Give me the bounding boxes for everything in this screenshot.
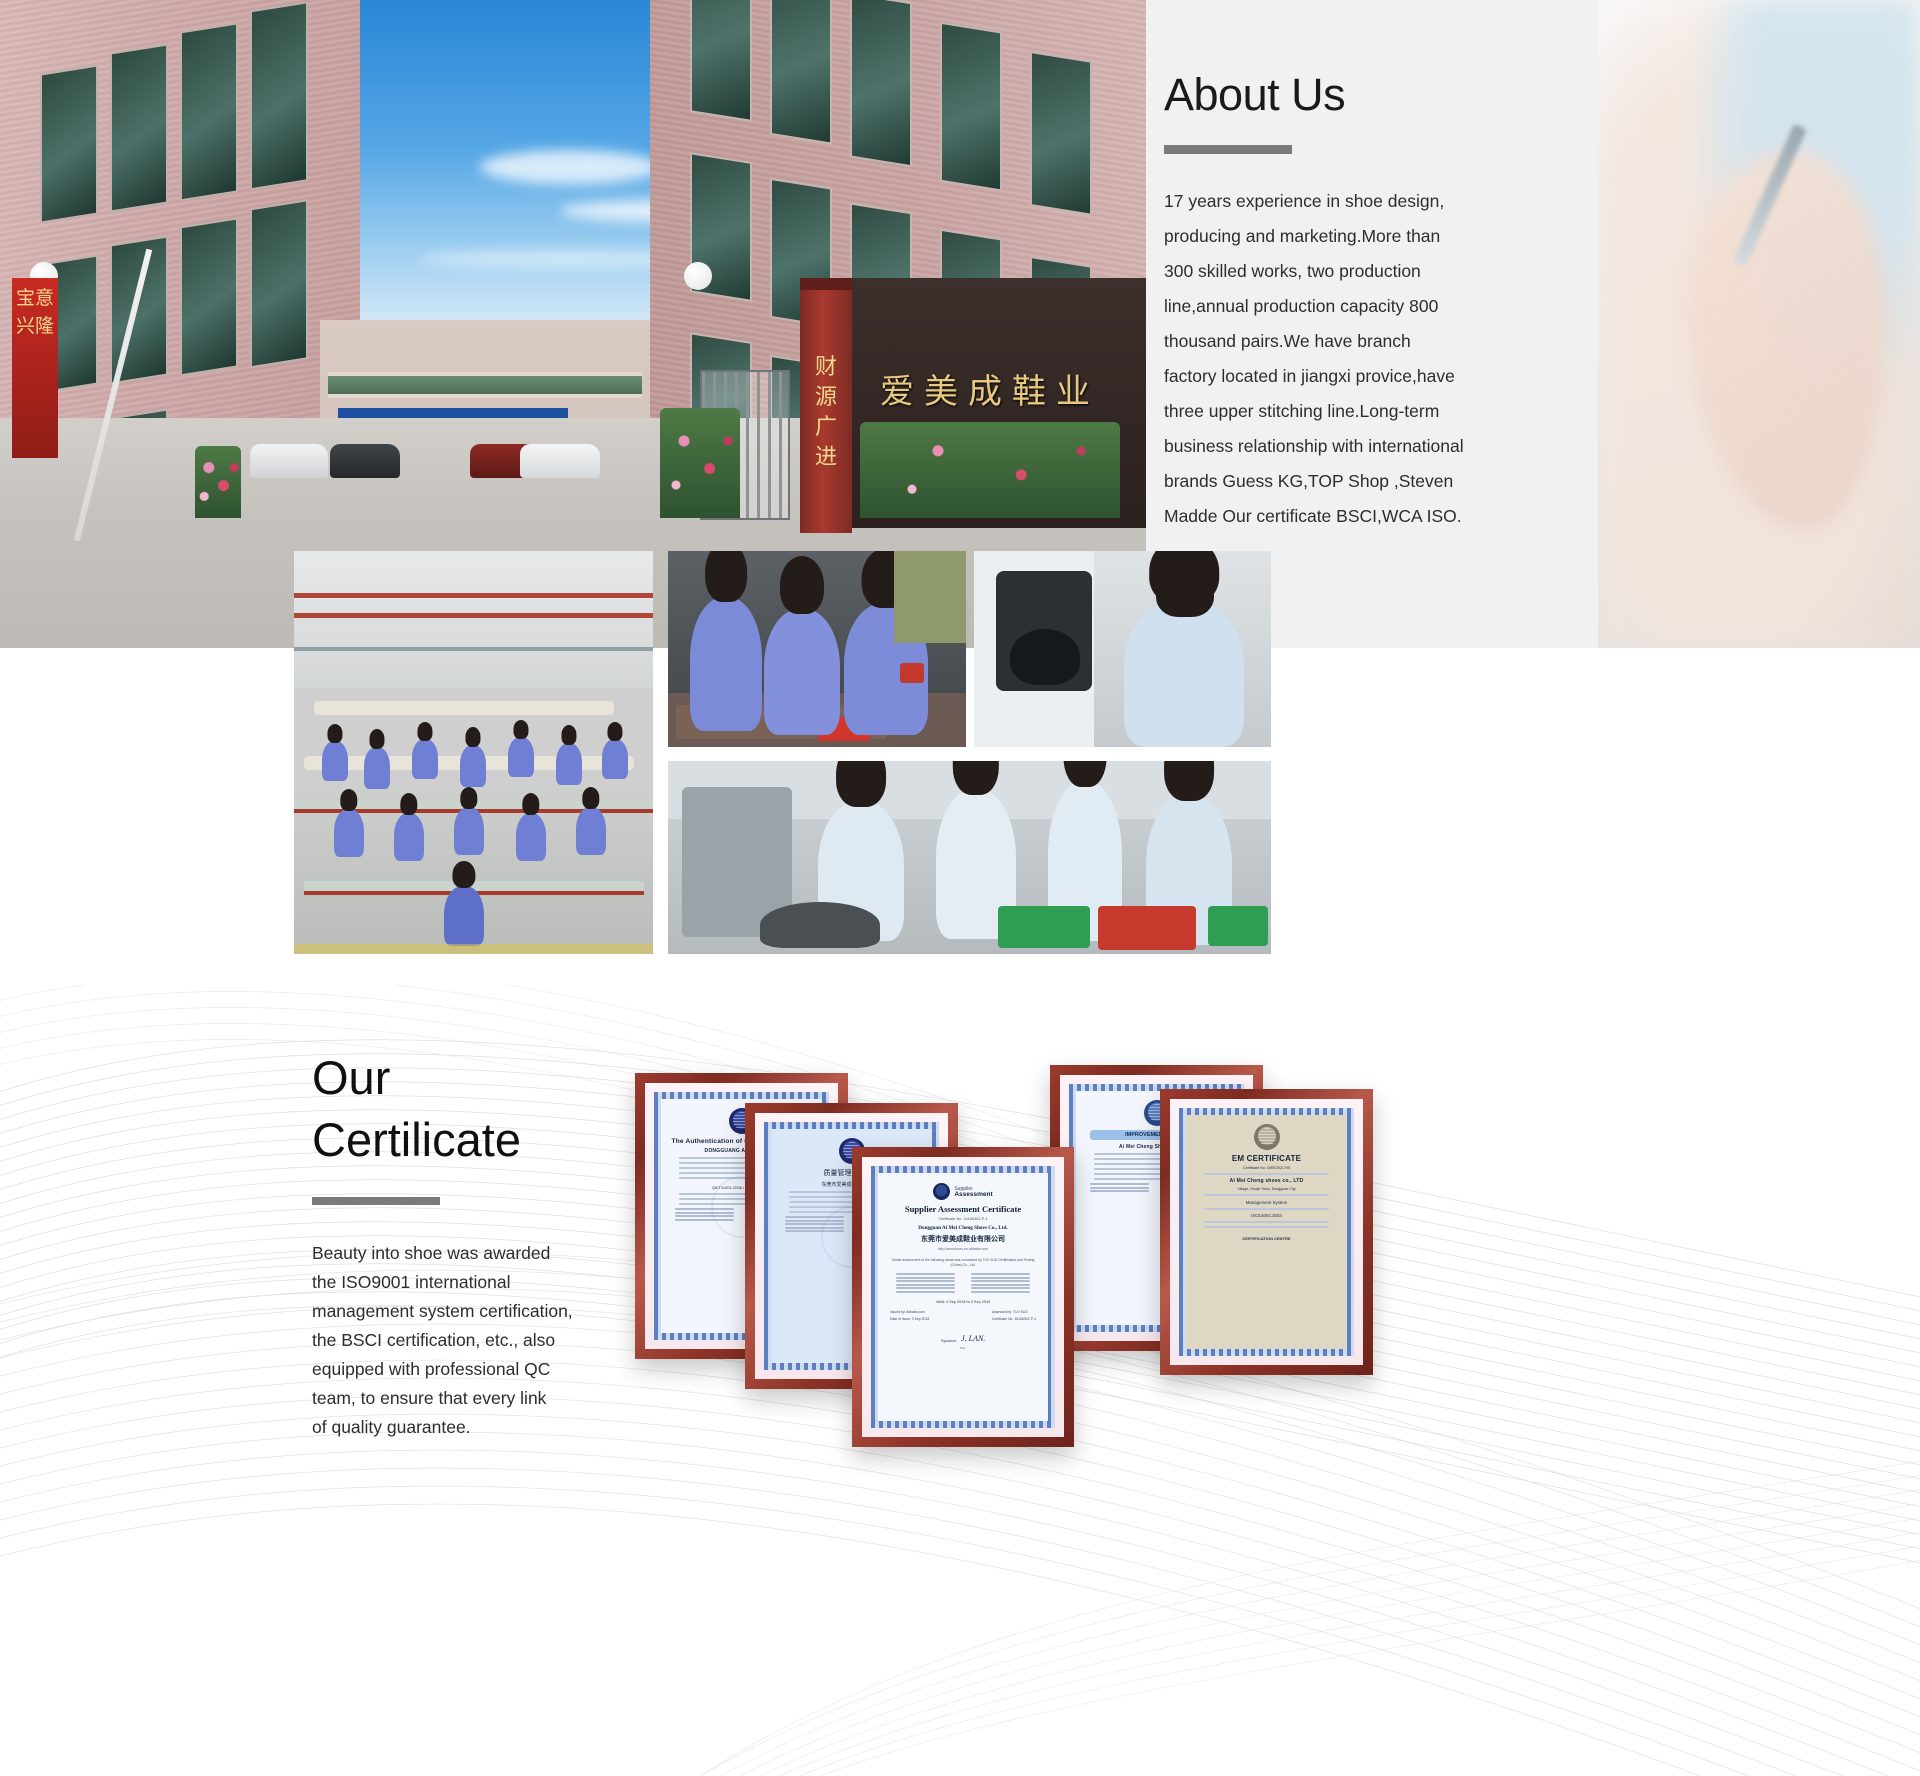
frame-title-label: Title: [884,1346,1042,1350]
frame-website: http://amcshoes.en.alibaba.com [884,1247,1042,1251]
frame-badge-line2: Assessment [954,1192,992,1198]
certificate-line: management system certification, [312,1297,602,1326]
frame-scope: Management System [1192,1200,1341,1205]
shoe-parts-pile [760,902,880,948]
parked-car [250,444,328,478]
certificate-line: the BSCI certification, etc., also [312,1326,602,1355]
about-line: factory located in jiangxi provice,have [1164,359,1550,394]
frame-certificate-no: Certificate No. 1615630Z-P-1 [884,1217,1042,1221]
frame-company: Ai Mei Cheng shoes co., LTD [1192,1178,1341,1184]
potted-plant [195,446,241,518]
frame-assessor-note: Onsite assessment of the following areas… [890,1258,1036,1268]
about-line: 300 skilled works, two production [1164,254,1550,289]
certificate-frames-group: The Authentication of Quality Management… [620,1047,1920,1776]
frame-company: Dongguan Ai Mei Cheng Shoes Co., Ltd. [884,1225,1042,1231]
green-basket [1208,906,1268,946]
frame-assessed-by: Assessed by: TUV SUD [992,1310,1036,1314]
certificate-line: of quality guarantee. [312,1413,602,1442]
certificate-text-block: Our Certilicate Beauty into shoe was awa… [312,1047,602,1442]
red-armband [900,663,924,683]
frame-signature-label: Signature: [941,1339,957,1343]
supplier-assessment-logo [933,1183,950,1200]
certificate-title-line1: Our [312,1051,390,1104]
about-paragraph: 17 years experience in shoe design, prod… [1164,184,1550,534]
frame-heading: Supplier Assessment Certificate [884,1204,1042,1214]
frame-certificate-no-2: Certificate No. 1615630Z-P-1 [992,1317,1036,1321]
about-line: business relationship with international [1164,429,1550,464]
certificate-line: equipped with professional QC [312,1355,602,1384]
gallery-image-cutting-team[interactable] [668,551,966,747]
frame-footer: CERTIFICATION CENTRE [1192,1236,1341,1241]
red-basket [1098,906,1196,950]
frame-company-cn: 东莞市爱美成鞋业有限公司 [884,1234,1042,1244]
signboard-chinese-text: 爱美成鞋业 [880,364,1120,413]
green-basket [998,906,1090,948]
parked-car [330,444,400,478]
certificate-line: Beauty into shoe was awarded [312,1239,602,1268]
about-line: line,annual production capacity 800 [1164,289,1550,324]
gate-pillar-text: 财源广进 [810,353,842,473]
about-title: About Us [1164,72,1550,117]
flower-bed [860,422,1120,518]
about-line: 17 years experience in shoe design, [1164,184,1550,219]
frame-date-of-issue: Date of Issue: 3 Sep 2018 [890,1317,929,1321]
frame-heading: EM CERTIFICATE [1192,1154,1341,1163]
iqc-seal-logo [1254,1124,1280,1150]
lamp [684,262,712,290]
about-line: three upper stitching line.Long-term [1164,394,1550,429]
certificate-line: the ISO9001 international [312,1268,602,1297]
factory-gallery [294,551,1274,954]
certificate-paragraph: Beauty into shoe was awarded the ISO9001… [312,1239,602,1442]
frame-certificate-no: Certificate No. 04RE2021705 [1192,1166,1341,1170]
designer-sketch-photo [1598,0,1920,648]
gallery-image-sewing-operator[interactable] [974,551,1271,747]
about-line: brands Guess KG,TOP Shop ,Steven [1164,464,1550,499]
flower-bed [660,408,740,518]
cloud [480,150,660,184]
shoe-upper [1010,629,1080,685]
frame-validity: Valid: 4 Sep 2018 to 3 Sep 2019 [884,1300,1042,1304]
about-line: Madde Our certificate BSCI,WCA ISO. [1164,499,1550,534]
frame-standard: ISO14001:2004 [1192,1213,1341,1218]
certificate-title-rule [312,1197,440,1205]
gallery-image-stitching-workshop-wide[interactable] [294,551,653,954]
certificate-title: Our Certilicate [312,1047,602,1171]
about-us-certificate-page: 宝意兴隆 爱美成鞋业 AI MEI CHENG SHOES 财源广进 About… [0,0,1920,1776]
red-banner-left: 宝意兴隆 [12,278,58,458]
frame-address: Village, Houjie Town, Dongguan City [1192,1187,1341,1191]
operator-head [1156,565,1214,617]
gallery-image-assembly-line[interactable] [668,761,1271,954]
our-certificate-section: Our Certilicate Beauty into shoe was awa… [0,985,1920,1776]
title-underline-rule [1164,145,1292,154]
frame-issued-by: Issued by: Alibaba.com [890,1310,929,1314]
certificate-frame-supplier-assessment[interactable]: Supplier Assessment Supplier Assessment … [852,1147,1074,1447]
certificate-title-line2: Certilicate [312,1113,521,1166]
about-line: producing and marketing.More than [1164,219,1550,254]
parked-car [520,444,600,478]
certificate-frame-em-certificate[interactable]: EM CERTIFICATE Certificate No. 04RE20217… [1160,1089,1373,1375]
certificate-line: team, to ensure that every link [312,1384,602,1413]
frame-signature: J. LAN. [961,1334,985,1343]
about-line: thousand pairs.We have branch [1164,324,1550,359]
